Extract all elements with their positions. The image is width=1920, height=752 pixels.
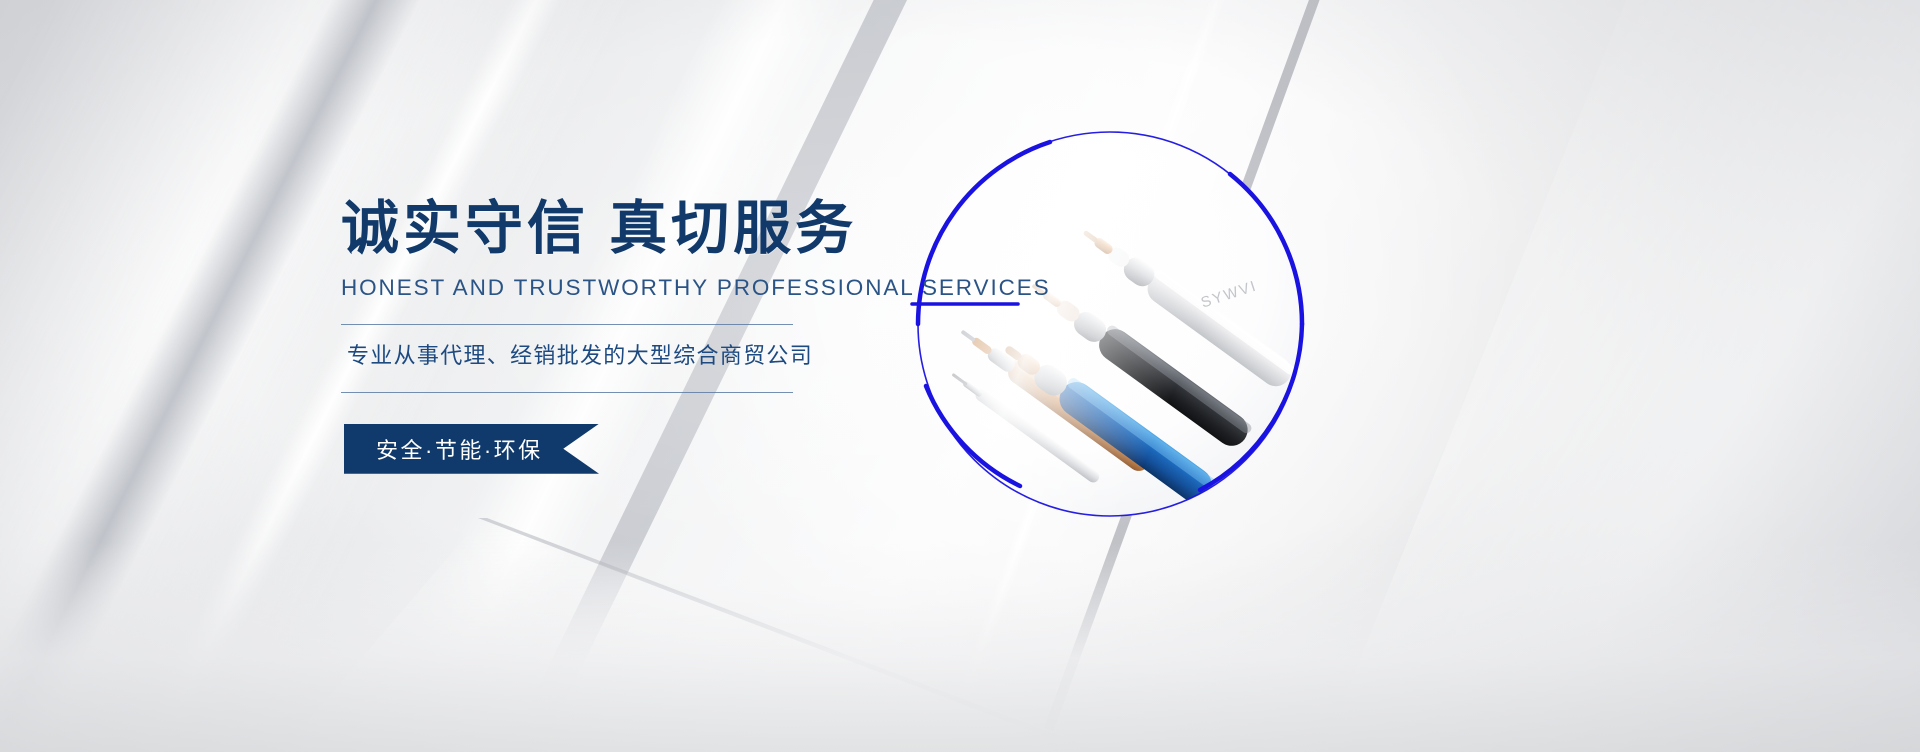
divider-bottom (341, 392, 793, 393)
hero-banner: 诚实守信 真切服务 HONEST AND TRUSTWORTHY PROFESS… (0, 0, 1920, 752)
hero-subheadline: HONEST AND TRUSTWORTHY PROFESSIONAL SERV… (341, 275, 901, 301)
divider-top (341, 324, 793, 325)
hero-headline: 诚实守信 真切服务 (341, 196, 901, 263)
feature-ribbon-badge[interactable]: 安全·节能·环保 (344, 424, 599, 474)
circle-ring-accent-icon (900, 114, 1320, 534)
hero-copy: 诚实守信 真切服务 HONEST AND TRUSTWORTHY PROFESS… (341, 196, 901, 474)
feature-ribbon-label: 安全·节能·环保 (344, 433, 543, 465)
hero-tagline: 专业从事代理、经销批发的大型综合商贸公司 (341, 338, 901, 370)
product-medallion: SYWVI (900, 114, 1320, 534)
